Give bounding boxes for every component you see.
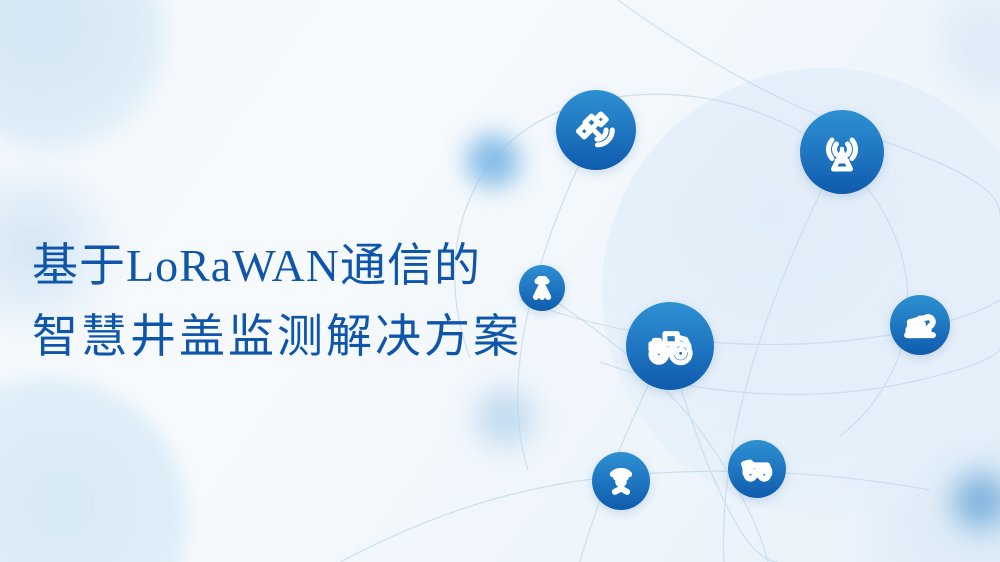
background-dot-lower bbox=[472, 385, 538, 451]
tractor-icon bbox=[642, 318, 698, 374]
title-slide: 基于LoRaWAN通信的 智慧井盖监测解决方案 bbox=[0, 0, 1000, 562]
background-disc bbox=[602, 68, 1000, 514]
headline-line-2: 智慧井盖监测解决方案 bbox=[32, 301, 572, 372]
background-dot-corner bbox=[948, 468, 1000, 534]
background-dot-upper bbox=[462, 130, 524, 192]
harvester-machine-icon bbox=[739, 451, 775, 487]
background-blob-top-left bbox=[0, 0, 166, 150]
wireless-sensor-icon bbox=[604, 464, 638, 498]
node-tractor[interactable] bbox=[626, 302, 714, 390]
node-radio-tower[interactable] bbox=[800, 110, 884, 194]
background-blob-bottom-left bbox=[0, 378, 188, 562]
oil-pumpjack-icon bbox=[902, 307, 938, 343]
slide-headline: 基于LoRaWAN通信的 智慧井盖监测解决方案 bbox=[32, 230, 572, 373]
node-wireless-sensor[interactable] bbox=[592, 452, 650, 510]
satellite-dish-icon bbox=[572, 106, 620, 154]
node-oil-pumpjack[interactable] bbox=[890, 295, 950, 355]
background-blob-bottom-right bbox=[876, 418, 1000, 562]
headline-line-1: 基于LoRaWAN通信的 bbox=[32, 230, 572, 301]
radio-tower-icon bbox=[817, 127, 867, 177]
node-harvester[interactable] bbox=[728, 440, 786, 498]
node-satellite[interactable] bbox=[556, 90, 636, 170]
background-blob-top-right bbox=[938, 0, 1000, 100]
